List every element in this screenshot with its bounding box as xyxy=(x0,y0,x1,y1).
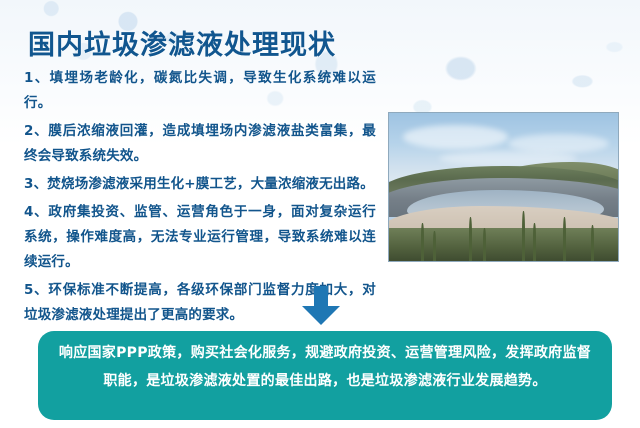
photo-grass xyxy=(591,225,594,261)
slide-canvas: 国内垃圾渗滤液处理现状 1、填埋场老龄化，碳氮比失调，导致生化系统难以运行。 2… xyxy=(0,0,640,428)
photo-cloud xyxy=(403,125,508,149)
page-title: 国内垃圾渗滤液处理现状 xyxy=(28,23,336,62)
photo-grass xyxy=(421,223,424,261)
arrow-down-icon xyxy=(300,286,342,326)
photo-grass xyxy=(469,217,472,261)
landfill-leachate-photo xyxy=(388,112,619,262)
photo-grass xyxy=(433,231,436,261)
list-item: 4、政府集投资、监管、运营角色于一身，面对复杂运行系统，操作难度高，无法专业运行… xyxy=(24,200,376,275)
photo-cloud xyxy=(508,134,609,153)
list-item: 2、膜后浓缩液回灌，造成填埋场内渗滤液盐类富集，最终会导致系统失效。 xyxy=(24,119,376,169)
photo-grass xyxy=(483,228,486,261)
conclusion-text: 响应国家PPP政策，购买社会化服务，规避政府投资、运营管理风险，发挥政府监督职能… xyxy=(58,339,592,395)
list-item: 3、焚烧场渗滤液采用生化+膜工艺，大量浓缩液无出路。 xyxy=(24,172,376,197)
photo-grass xyxy=(563,217,566,261)
photo-grass xyxy=(522,211,525,261)
conclusion-box: 响应国家PPP政策，购买社会化服务，规避政府投资、运营管理风险，发挥政府监督职能… xyxy=(38,331,612,420)
list-item: 1、填埋场老龄化，碳氮比失调，导致生化系统难以运行。 xyxy=(24,66,376,116)
